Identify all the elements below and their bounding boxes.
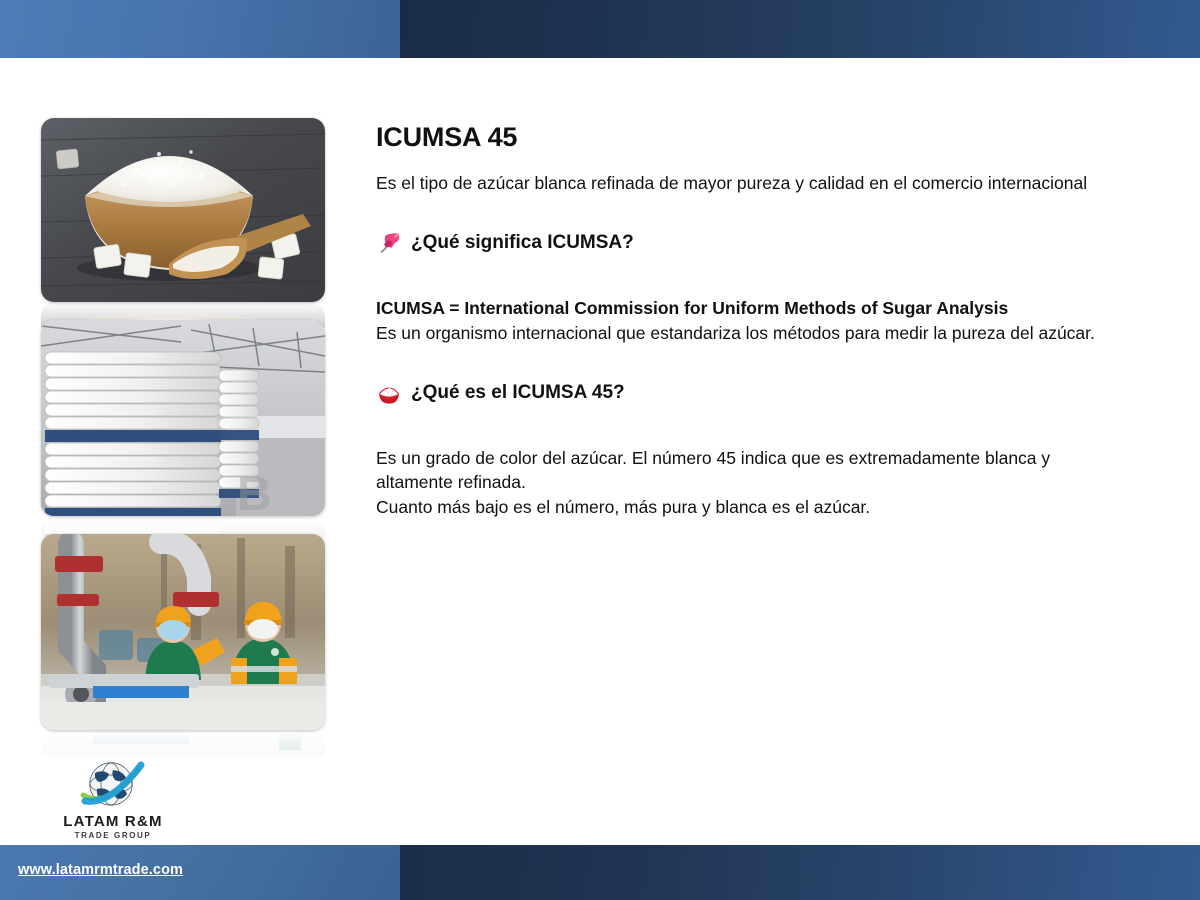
question-heading-1: ¿Qué significa ICUMSA? xyxy=(376,230,1136,256)
sugar-refinery-workers-photo-frame xyxy=(41,534,325,730)
sugar-bowl-illustration xyxy=(41,118,325,302)
pushpin-icon xyxy=(376,230,402,256)
grade-line-1: Es un grado de color del azúcar. El núme… xyxy=(376,446,1121,496)
image-column: B xyxy=(41,118,325,756)
top-banner-left-block xyxy=(0,0,400,58)
logo-subtitle: TRADE GROUP xyxy=(48,831,178,840)
page-title: ICUMSA 45 xyxy=(376,122,1136,153)
reflection-art xyxy=(41,730,325,756)
sugar-bowl-photo-frame xyxy=(41,118,325,302)
bottom-banner-right-block xyxy=(400,845,1200,900)
rice-bowl-icon xyxy=(376,380,402,406)
question-heading-2: ¿Qué es el ICUMSA 45? xyxy=(376,380,1136,406)
definition-line: ICUMSA = International Commission for Un… xyxy=(376,296,1136,321)
blue-pallet xyxy=(45,430,221,442)
question-heading-1-label: ¿Qué significa ICUMSA? xyxy=(411,232,634,254)
grade-line-2: Cuanto más bajo es el número, más pura y… xyxy=(376,495,1121,520)
top-banner xyxy=(0,0,1200,58)
warehouse-illustration: B xyxy=(41,320,325,516)
sugar-bags-warehouse-photo: B xyxy=(41,320,325,542)
company-logo: LATAM R&M TRADE GROUP xyxy=(48,755,178,840)
bottom-banner-left-block: www.latamrmtrade.com xyxy=(0,845,400,900)
top-banner-right-block xyxy=(400,0,1200,58)
bottom-banner: www.latamrmtrade.com xyxy=(0,845,1200,900)
grade-body: Es un grado de color del azúcar. El núme… xyxy=(376,446,1121,521)
question-heading-2-label: ¿Qué es el ICUMSA 45? xyxy=(411,382,625,404)
sugar-bags-warehouse-photo-frame: B xyxy=(41,320,325,516)
sugar-refinery-workers-photo xyxy=(41,534,325,756)
globe-swoosh-icon xyxy=(77,755,149,815)
sugar-refinery-workers-photo-reflection xyxy=(41,730,325,756)
website-url-link[interactable]: www.latamrmtrade.com xyxy=(18,862,183,878)
logo-company-name: LATAM R&M xyxy=(48,813,178,830)
definition-body: Es un organismo internacional que estand… xyxy=(376,321,1136,346)
refinery-workers-illustration xyxy=(41,534,325,730)
svg-text:B: B xyxy=(237,468,272,516)
content-column: ICUMSA 45 Es el tipo de azúcar blanca re… xyxy=(376,122,1136,520)
intro-paragraph: Es el tipo de azúcar blanca refinada de … xyxy=(376,171,1121,196)
sugar-bowl-photo xyxy=(41,118,325,328)
bag-stack-left xyxy=(43,350,221,516)
